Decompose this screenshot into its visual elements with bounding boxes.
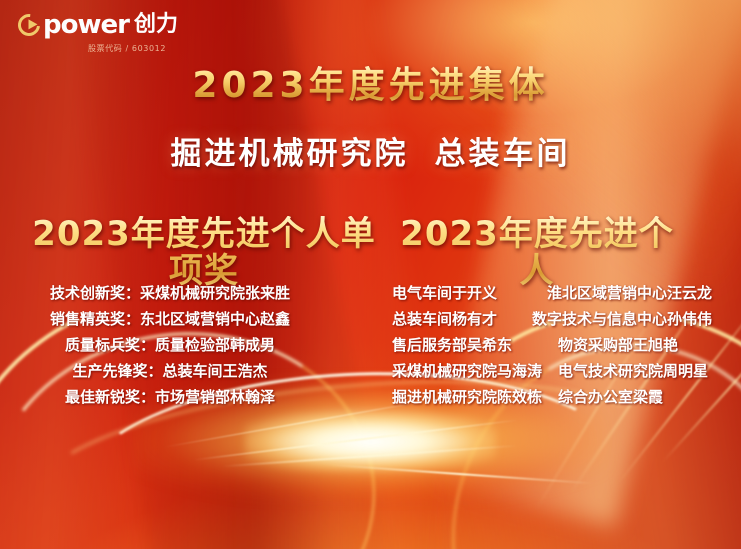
list-item: 生产先锋奖：总装车间王浩杰 bbox=[40, 364, 300, 379]
advanced-individual-list: 电气车间于开义 淮北区域营销中心汪云龙 总装车间杨有才 数字技术与信息中心孙伟伟… bbox=[392, 286, 712, 416]
table-row: 采煤机械研究院马海涛 电气技术研究院周明星 bbox=[392, 364, 712, 379]
stock-code-label: 股票代码 / 603012 bbox=[52, 43, 202, 54]
logo-wordmark: power bbox=[43, 12, 129, 38]
list-item: 总装车间杨有才 bbox=[392, 312, 518, 327]
list-item: 综合办公室梁霞 bbox=[558, 390, 663, 405]
list-item: 技术创新奖：采煤机械研究院张来胜 bbox=[40, 286, 300, 301]
list-item: 物资采购部王旭艳 bbox=[558, 338, 678, 353]
list-item: 采煤机械研究院马海涛 bbox=[392, 364, 544, 379]
award-poster: power 创力 股票代码 / 603012 2023年度先进集体 掘进机械研究… bbox=[0, 0, 741, 549]
c-power-mark-icon bbox=[14, 10, 45, 41]
section-heading-individual-special-awards: 2023年度先进个人单项奖 bbox=[18, 216, 390, 291]
logo-chinese-name: 创力 bbox=[134, 14, 178, 36]
table-row: 总装车间杨有才 数字技术与信息中心孙伟伟 bbox=[392, 312, 712, 327]
list-item: 电气车间于开义 bbox=[392, 286, 533, 301]
list-item: 数字技术与信息中心孙伟伟 bbox=[532, 312, 712, 327]
logo-row: power 创力 bbox=[18, 12, 228, 38]
company-logo: power 创力 股票代码 / 603012 bbox=[18, 12, 228, 54]
list-item: 掘进机械研究院陈效栋 bbox=[392, 390, 544, 405]
list-item: 电气技术研究院周明星 bbox=[558, 364, 708, 379]
page-title: 2023年度先进集体 bbox=[0, 66, 741, 106]
collective-winners: 掘进机械研究院总装车间 bbox=[0, 137, 741, 171]
special-award-list: 技术创新奖：采煤机械研究院张来胜 销售精英奖：东北区域营销中心赵鑫 质量标兵奖：… bbox=[40, 286, 300, 416]
list-item: 质量标兵奖：质量检验部韩成男 bbox=[40, 338, 300, 353]
ribbon-glow-core bbox=[245, 413, 497, 471]
table-row: 售后服务部吴希东 物资采购部王旭艳 bbox=[392, 338, 712, 353]
list-item: 售后服务部吴希东 bbox=[392, 338, 544, 353]
table-row: 掘进机械研究院陈效栋 综合办公室梁霞 bbox=[392, 390, 712, 405]
collective-winner-2: 总装车间 bbox=[435, 136, 571, 172]
list-item: 销售精英奖：东北区域营销中心赵鑫 bbox=[40, 312, 300, 327]
table-row: 电气车间于开义 淮北区域营销中心汪云龙 bbox=[392, 286, 712, 301]
list-item: 最佳新锐奖：市场营销部林翰泽 bbox=[40, 390, 300, 405]
list-item: 淮北区域营销中心汪云龙 bbox=[547, 286, 712, 301]
section-heading-advanced-individuals: 2023年度先进个人 bbox=[392, 216, 682, 291]
collective-winner-1: 掘进机械研究院 bbox=[171, 136, 409, 172]
